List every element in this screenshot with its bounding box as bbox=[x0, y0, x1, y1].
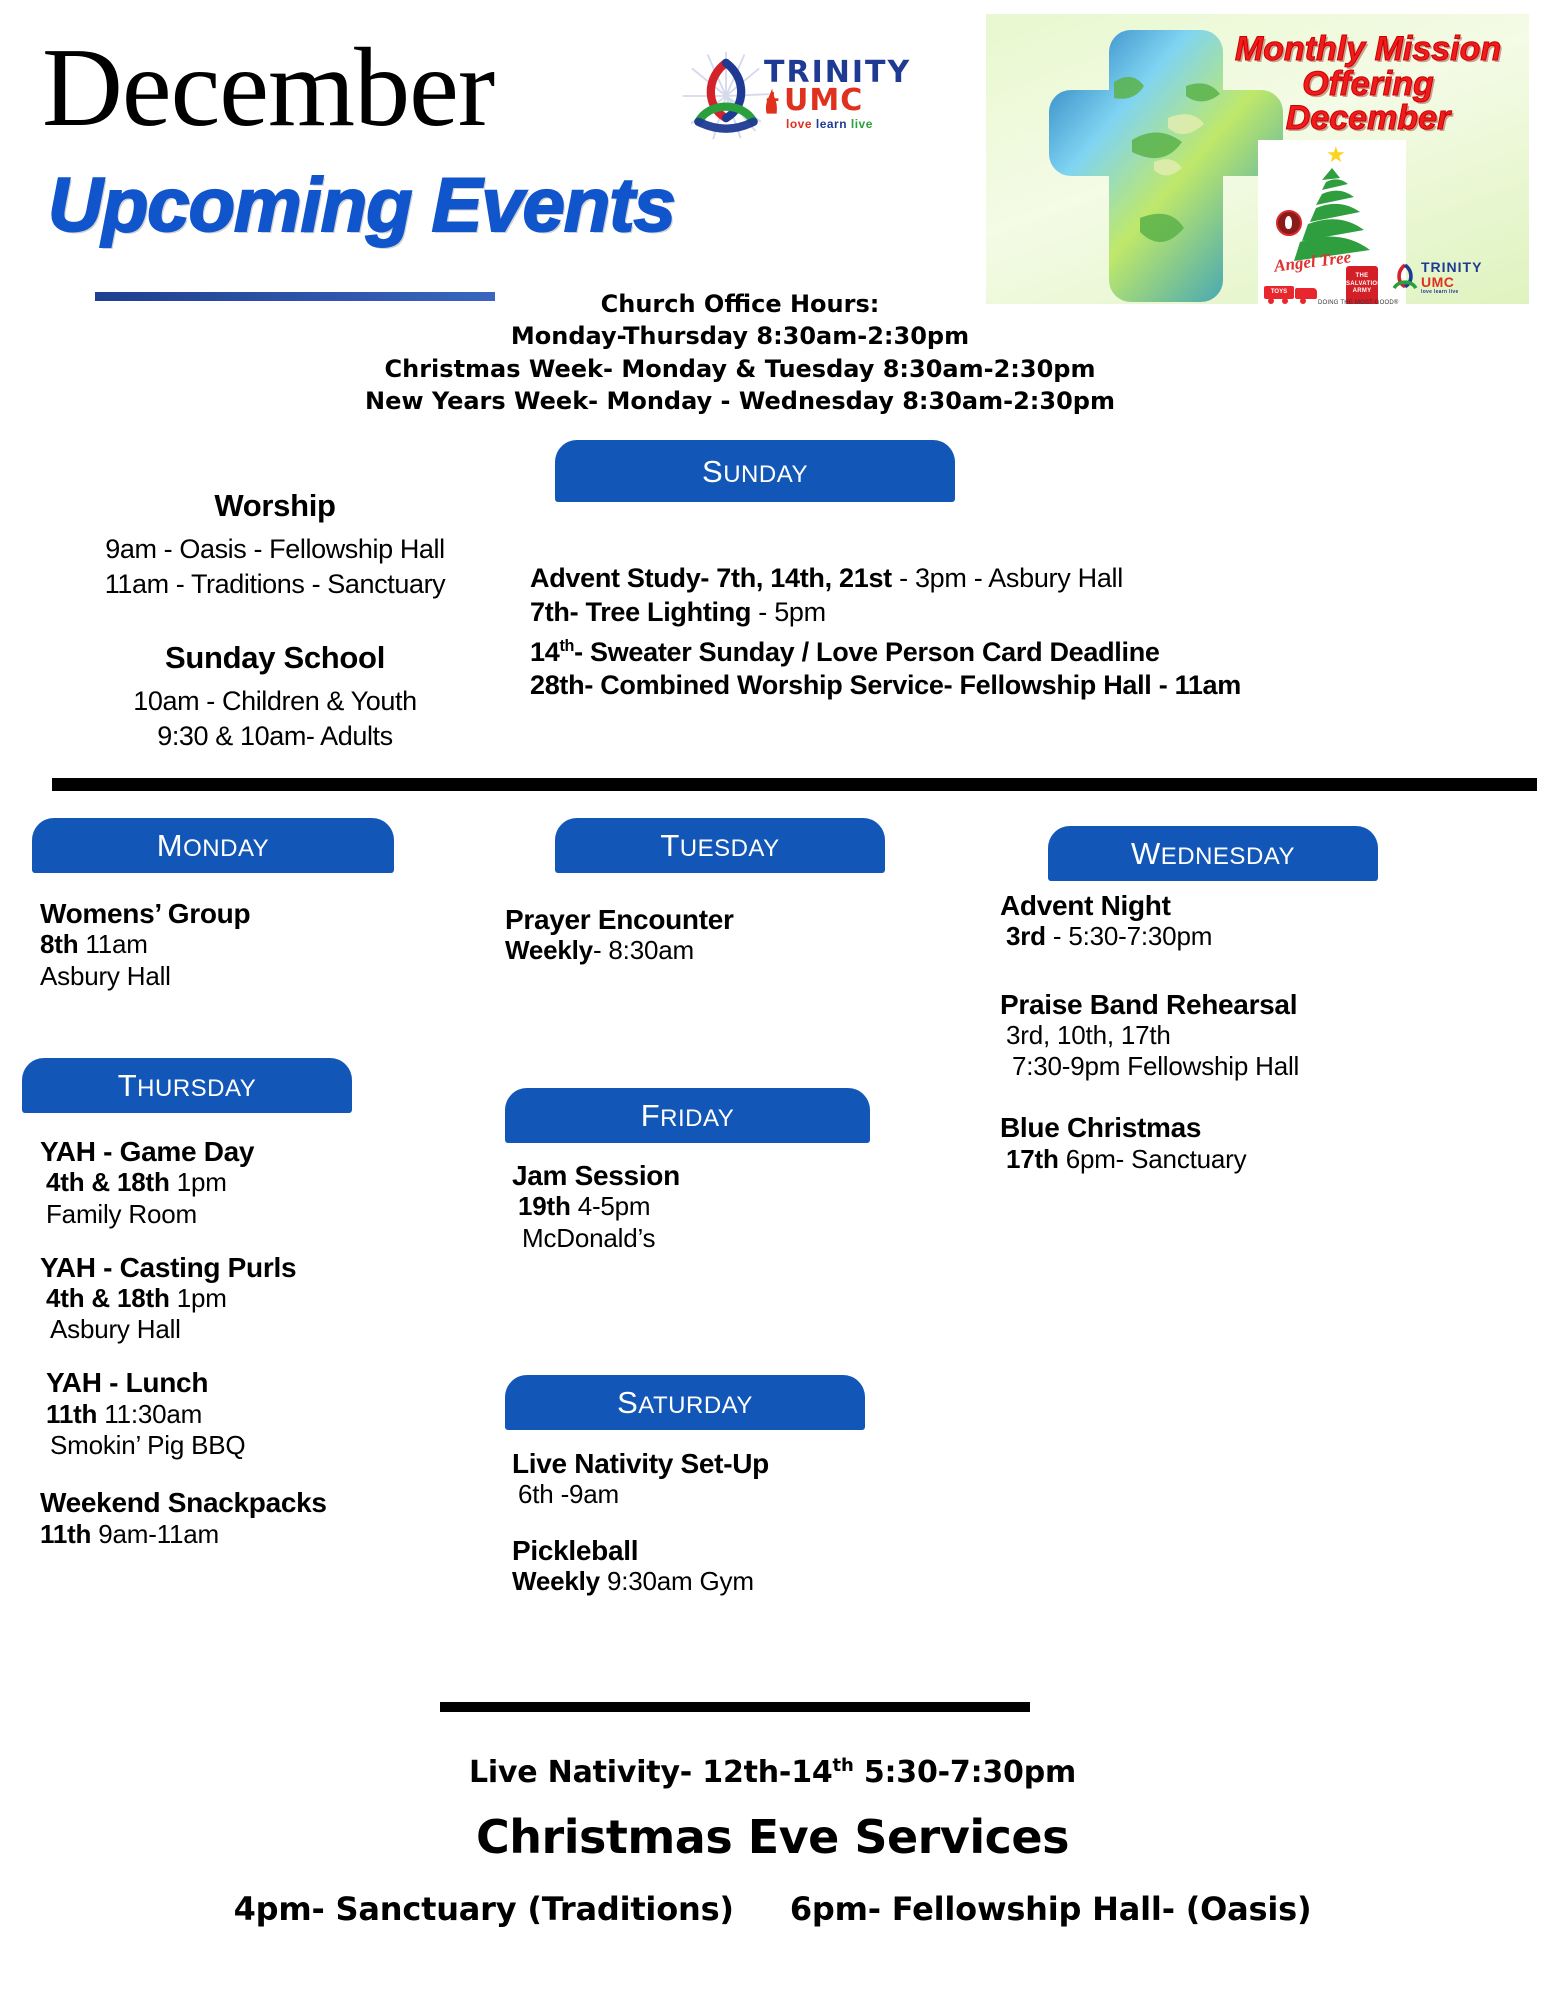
flyer-page: December Upcoming Events TRINITY bbox=[0, 0, 1545, 2000]
mission-title-line1: Monthly Mission bbox=[1218, 32, 1518, 67]
combined-worship-text: 28th- Combined Worship Service- Fellowsh… bbox=[530, 670, 1241, 700]
banner-wednesday-label: WEDNESDAY bbox=[1131, 838, 1295, 869]
tree-lighting-bold: 7th- Tree Lighting bbox=[530, 597, 751, 627]
logo-umc-row: UMC bbox=[764, 86, 911, 116]
event-datetime: Weekly 9:30am Gym bbox=[512, 1566, 942, 1597]
footer-services: 4pm- Sanctuary (Traditions)6pm- Fellowsh… bbox=[0, 1890, 1545, 1928]
mission-logo-tagline: love learn live bbox=[1421, 289, 1482, 295]
sunday-event-sweater-sunday: 14th- Sweater Sunday / Love Person Card … bbox=[530, 636, 1540, 670]
event-item: Prayer Encounter Weekly- 8:30am bbox=[505, 904, 905, 967]
tuesday-events: Prayer Encounter Weekly- 8:30am bbox=[505, 904, 905, 967]
sunday-school-1: 10am - Children & Youth bbox=[30, 684, 520, 719]
event-time: - 8:30am bbox=[593, 935, 694, 965]
mission-title: Monthly Mission Offering December bbox=[1218, 32, 1518, 136]
event-time: 1pm bbox=[170, 1283, 227, 1313]
event-item: Pickleball Weekly 9:30am Gym bbox=[512, 1535, 942, 1598]
sunday-events-block: Advent Study- 7th, 14th, 21st - 3pm - As… bbox=[530, 562, 1540, 703]
office-hours-line-3: New Years Week- Monday - Wednesday 8:30a… bbox=[300, 385, 1180, 417]
banner-monday-label: MONDAY bbox=[157, 830, 269, 861]
nativity-pre: Live Nativity- 12th-14 bbox=[469, 1755, 833, 1790]
event-date: 3rd, 10th, 17th bbox=[1006, 1020, 1480, 1051]
event-datetime: 3rd - 5:30-7:30pm bbox=[1006, 921, 1480, 952]
sunday-worship-block: Worship 9am - Oasis - Fellowship Hall 11… bbox=[30, 488, 520, 601]
event-datetime: 11th 9am-11am bbox=[40, 1519, 470, 1550]
event-datetime: 4th & 18th 1pm bbox=[46, 1167, 470, 1198]
tagline-love: love bbox=[786, 117, 812, 131]
event-date: 4th & 18th bbox=[46, 1167, 170, 1197]
event-title: Womens’ Group bbox=[40, 898, 420, 929]
event-item: Live Nativity Set-Up 6th -9am bbox=[512, 1448, 942, 1511]
advent-study-bold: Advent Study- 7th, 14th, 21st bbox=[530, 563, 892, 593]
event-time: 1pm bbox=[170, 1167, 227, 1197]
mission-logo-umc: UMC bbox=[1421, 275, 1482, 290]
event-datetime: 17th 6pm- Sanctuary bbox=[1006, 1144, 1480, 1175]
event-datetime: 8th 11am bbox=[40, 929, 420, 960]
event-place: Asbury Hall bbox=[50, 1314, 470, 1345]
mission-logo-trinity: TRINITY bbox=[1421, 260, 1482, 275]
event-item: Praise Band Rehearsal 3rd, 10th, 17th 7:… bbox=[1000, 989, 1480, 1083]
event-time: 11am bbox=[78, 929, 147, 959]
toys-for-tots-logo: TOYS FOR TOTS bbox=[1264, 286, 1320, 304]
sunday-school-block: Sunday School 10am - Children & Youth 9:… bbox=[30, 640, 520, 753]
train-wheel-icon bbox=[1282, 298, 1288, 304]
worship-heading: Worship bbox=[30, 488, 520, 524]
event-date: 11th bbox=[46, 1399, 97, 1429]
event-date: 4th & 18th bbox=[46, 1283, 170, 1313]
trinity-knot-icon bbox=[680, 50, 772, 142]
event-title: Pickleball bbox=[512, 1535, 942, 1566]
footer-christmas-eve-heading: Christmas Eve Services bbox=[0, 1810, 1545, 1864]
event-title: Prayer Encounter bbox=[505, 904, 905, 935]
advent-study-rest: - 3pm - Asbury Hall bbox=[892, 563, 1123, 593]
event-item: YAH - Game Day 4th & 18th 1pm Family Roo… bbox=[40, 1136, 470, 1230]
sweater-date-suffix: th bbox=[559, 637, 574, 655]
event-place: 7:30-9pm Fellowship Hall bbox=[1012, 1051, 1480, 1082]
friday-events: Jam Session 19th 4-5pm McDonald’s bbox=[512, 1160, 912, 1254]
event-time: 9:30am Gym bbox=[600, 1566, 754, 1596]
event-item: YAH - Casting Purls 4th & 18th 1pm Asbur… bbox=[40, 1252, 470, 1346]
monthly-mission-offering-card: Monthly Mission Offering December ★ Ange… bbox=[986, 14, 1529, 304]
tagline-learn: learn bbox=[816, 117, 847, 131]
nativity-post: 5:30-7:30pm bbox=[854, 1755, 1076, 1790]
event-title: YAH - Casting Purls bbox=[40, 1252, 470, 1283]
event-title: Praise Band Rehearsal bbox=[1000, 989, 1480, 1020]
tagline-live: live bbox=[851, 117, 873, 131]
event-date: 17th bbox=[1006, 1144, 1059, 1174]
page-title: December bbox=[42, 32, 494, 144]
worship-service-2: 11am - Traditions - Sanctuary bbox=[30, 567, 520, 602]
event-datetime: 4th & 18th 1pm bbox=[46, 1283, 470, 1314]
nativity-suffix: th bbox=[833, 1755, 854, 1776]
salvation-army-caption: DOING THE MOST GOOD® bbox=[1318, 300, 1399, 304]
tree-lighting-rest: - 5pm bbox=[751, 597, 826, 627]
worship-service-1: 9am - Oasis - Fellowship Hall bbox=[30, 532, 520, 567]
train-engine-icon bbox=[1295, 288, 1317, 299]
train-wheel-icon bbox=[1268, 298, 1274, 304]
event-date: 19th bbox=[518, 1191, 571, 1221]
event-title: YAH - Game Day bbox=[40, 1136, 470, 1167]
banner-saturday: SATURDAY bbox=[505, 1375, 865, 1430]
event-datetime: Weekly- 8:30am bbox=[505, 935, 905, 966]
banner-wednesday: WEDNESDAY bbox=[1048, 826, 1378, 881]
event-place: Smokin’ Pig BBQ bbox=[50, 1430, 470, 1461]
event-date: 11th bbox=[40, 1519, 91, 1549]
mission-title-line2: Offering bbox=[1218, 67, 1518, 102]
banner-tuesday: TUESDAY bbox=[555, 818, 885, 873]
event-datetime: 19th 4-5pm bbox=[518, 1191, 912, 1222]
banner-friday: FRIDAY bbox=[505, 1088, 870, 1143]
mission-logo-text: TRINITY UMC love learn live bbox=[1421, 260, 1482, 295]
event-item: Womens’ Group 8th 11am Asbury Hall bbox=[40, 898, 420, 992]
angel-tree-card: ★ Angel Tree THE SALVATION ARMY DOING TH… bbox=[1258, 140, 1406, 304]
event-item: YAH - Lunch 11th 11:30am Smokin’ Pig BBQ bbox=[40, 1367, 470, 1461]
event-time: - 5:30-7:30pm bbox=[1046, 921, 1212, 951]
mission-title-line3: December bbox=[1218, 101, 1518, 136]
service-2: 6pm- Fellowship Hall- (Oasis) bbox=[790, 1890, 1312, 1928]
event-time: 9am-11am bbox=[91, 1519, 219, 1549]
event-place: Asbury Hall bbox=[40, 961, 420, 992]
salvation-army-logo: THE SALVATION ARMY bbox=[1346, 266, 1378, 304]
event-place: Family Room bbox=[46, 1199, 470, 1230]
footer-live-nativity: Live Nativity- 12th-14th 5:30-7:30pm bbox=[0, 1755, 1545, 1790]
event-title: Weekend Snackpacks bbox=[40, 1487, 470, 1518]
event-time: 11:30am bbox=[97, 1399, 202, 1429]
event-title: Jam Session bbox=[512, 1160, 912, 1191]
banner-tuesday-label: TUESDAY bbox=[660, 830, 779, 861]
trinity-knot-icon bbox=[1387, 260, 1423, 296]
mission-trinity-logo: TRINITY UMC love learn live bbox=[1387, 258, 1523, 298]
sweater-rest: - Sweater Sunday / Love Person Card Dead… bbox=[574, 637, 1159, 667]
service-1: 4pm- Sanctuary (Traditions) bbox=[234, 1890, 734, 1928]
event-date: Weekly bbox=[512, 1566, 600, 1596]
section-divider-top bbox=[52, 778, 1537, 791]
event-date: 3rd bbox=[1006, 921, 1046, 951]
thursday-events: YAH - Game Day 4th & 18th 1pm Family Roo… bbox=[40, 1136, 470, 1550]
logo-tagline: love learn live bbox=[786, 117, 911, 131]
monday-events: Womens’ Group 8th 11am Asbury Hall bbox=[40, 898, 420, 992]
salvation-army-text: THE SALVATION ARMY bbox=[1346, 266, 1378, 296]
sunday-event-combined-worship: 28th- Combined Worship Service- Fellowsh… bbox=[530, 669, 1540, 703]
banner-sunday-label: SUNDAY bbox=[702, 456, 808, 487]
wednesday-events: Advent Night 3rd - 5:30-7:30pm Praise Ba… bbox=[1000, 890, 1480, 1175]
event-item: Jam Session 19th 4-5pm McDonald’s bbox=[512, 1160, 912, 1254]
banner-thursday-label: THURSDAY bbox=[118, 1070, 257, 1101]
page-subtitle: Upcoming Events bbox=[48, 168, 675, 244]
umc-cross-flame-icon bbox=[764, 86, 782, 116]
event-title: YAH - Lunch bbox=[46, 1367, 470, 1398]
train-wheel-icon bbox=[1300, 298, 1306, 304]
sunday-event-tree-lighting: 7th- Tree Lighting - 5pm bbox=[530, 596, 1540, 630]
event-date: 6th -9am bbox=[518, 1479, 942, 1510]
event-place: McDonald’s bbox=[522, 1223, 912, 1254]
banner-saturday-label: SATURDAY bbox=[617, 1387, 753, 1418]
saturday-events: Live Nativity Set-Up 6th -9am Pickleball… bbox=[512, 1448, 942, 1597]
office-hours-line-2: Christmas Week- Monday & Tuesday 8:30am-… bbox=[300, 353, 1180, 385]
event-date: Weekly bbox=[505, 935, 593, 965]
logo-wordmark: TRINITY UMC love learn live bbox=[764, 58, 911, 131]
office-hours-line-1: Monday-Thursday 8:30am-2:30pm bbox=[300, 320, 1180, 352]
banner-thursday: THURSDAY bbox=[22, 1058, 352, 1113]
banner-sunday: SUNDAY bbox=[555, 440, 955, 502]
event-item: Blue Christmas 17th 6pm- Sanctuary bbox=[1000, 1112, 1480, 1175]
sunday-school-2: 9:30 & 10am- Adults bbox=[30, 719, 520, 754]
event-item: Weekend Snackpacks 11th 9am-11am bbox=[40, 1487, 470, 1550]
event-item: Advent Night 3rd - 5:30-7:30pm bbox=[1000, 890, 1480, 953]
event-datetime: 11th 11:30am bbox=[46, 1399, 470, 1430]
toys-for-tots-label: TOYS FOR TOTS bbox=[1264, 286, 1294, 299]
event-time: 6pm- Sanctuary bbox=[1059, 1144, 1247, 1174]
section-divider-bottom bbox=[440, 1702, 1030, 1712]
logo-umc-text: UMC bbox=[784, 86, 863, 116]
trinity-umc-logo: TRINITY UMC love learn live bbox=[680, 48, 930, 146]
banner-monday: MONDAY bbox=[32, 818, 394, 873]
ornament-icon bbox=[1276, 210, 1302, 236]
sunday-school-heading: Sunday School bbox=[30, 640, 520, 676]
office-hours-block: Church Office Hours: Monday-Thursday 8:3… bbox=[300, 288, 1180, 418]
event-title: Advent Night bbox=[1000, 890, 1480, 921]
banner-friday-label: FRIDAY bbox=[641, 1100, 735, 1131]
event-title: Live Nativity Set-Up bbox=[512, 1448, 942, 1479]
sunday-event-advent-study: Advent Study- 7th, 14th, 21st - 3pm - As… bbox=[530, 562, 1540, 596]
event-title: Blue Christmas bbox=[1000, 1112, 1480, 1143]
office-hours-heading: Church Office Hours: bbox=[300, 288, 1180, 320]
event-time: 4-5pm bbox=[571, 1191, 651, 1221]
event-date: 8th bbox=[40, 929, 78, 959]
sweater-date: 14 bbox=[530, 637, 559, 667]
